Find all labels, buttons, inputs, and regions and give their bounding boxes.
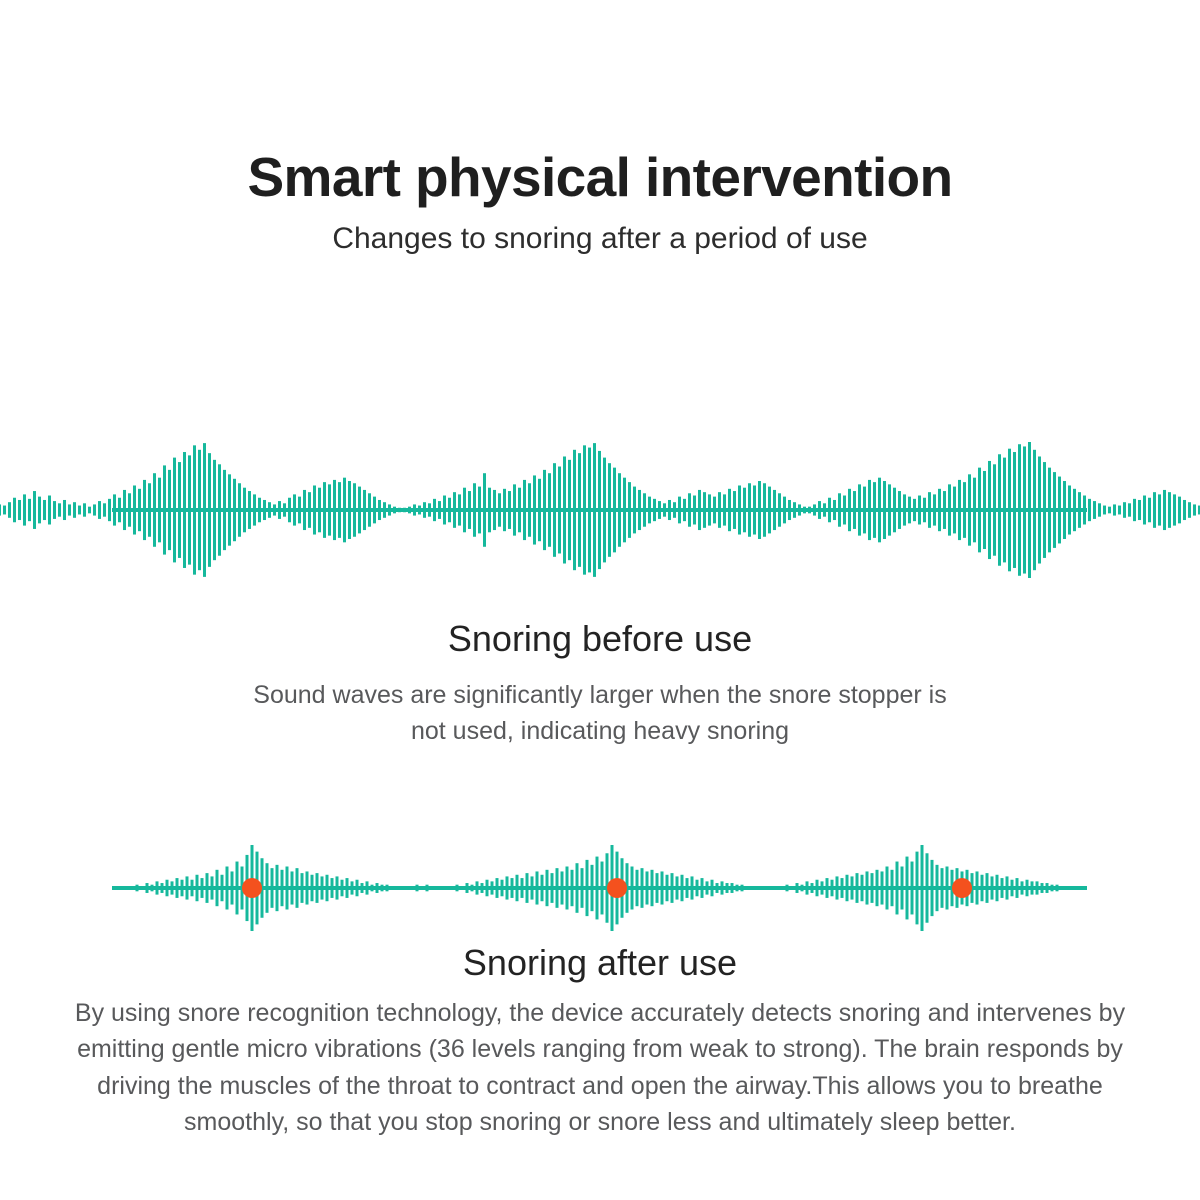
waveform-bar [853,491,856,529]
waveform-bar [561,871,564,904]
waveform-bar [623,478,626,543]
waveform-bar [901,867,904,910]
waveform-bar [603,458,606,563]
waveform-bar [928,492,931,528]
waveform-bar [833,500,836,520]
section-after-title: Snoring after use [0,940,1200,985]
waveform-bar [418,506,421,515]
waveform-bar [1158,494,1161,525]
waveform-bar [311,875,314,901]
waveform-bar [1123,502,1126,518]
waveform-bar [188,455,191,564]
waveform-bar [266,863,269,913]
waveform-bar [1138,500,1141,520]
waveform-bar [1133,499,1136,521]
waveform-bar [398,508,401,512]
waveform-bar [503,489,506,531]
waveform-bar [433,499,436,521]
waveform-bar [253,494,256,525]
waveform-bar [198,450,201,570]
waveform-bar [526,873,529,903]
waveform-bar [921,845,924,931]
waveform-bar [1098,503,1101,516]
waveform-bar [553,463,556,557]
waveform-bar [841,878,844,898]
waveform-bar [558,467,561,554]
waveform-bar [308,492,311,528]
waveform-bar [993,464,996,555]
waveform-bar [996,875,999,901]
waveform-bar [893,488,896,533]
waveform-bar [1026,880,1029,897]
waveform-bar [498,493,501,526]
waveform-bar [691,876,694,899]
section-before-body: Sound waves are significantly larger whe… [250,677,950,750]
waveform-bar [393,507,396,514]
waveform-bar [573,450,576,570]
waveform-bar [463,488,466,533]
waveform-bar [631,867,634,910]
waveform-bar [78,506,81,515]
waveform-bar [803,507,806,514]
waveform-bar [943,491,946,529]
waveform-bar [791,886,794,889]
waveform-bar [298,497,301,524]
waveform-bar [566,867,569,910]
waveform-bar [361,883,364,893]
waveform-bar [483,473,486,547]
waveform-bar [796,883,799,893]
waveform-bar [416,885,419,892]
waveform-bar [658,501,661,519]
waveform-bar [158,478,161,543]
waveform-bar [1051,885,1054,892]
waveform-bar [151,885,154,892]
waveform-bar [1056,885,1059,892]
waveform-bar [143,480,146,540]
waveform-bar [743,488,746,533]
waveform-bar [166,880,169,897]
waveform-bar [541,875,544,901]
waveform-bar [936,865,939,911]
waveform-bar [533,475,536,544]
waveform-bar [731,883,734,893]
waveform-bar [981,875,984,901]
waveform-bar [883,481,886,539]
waveform-bar [983,471,986,549]
waveform-bar [831,880,834,897]
waveform-bar [708,494,711,525]
waveform-bar [788,500,791,520]
waveform-bar [746,886,749,889]
waveform-bar [358,487,361,534]
waveform-bar [58,503,61,516]
waveform-before-use [0,440,1200,580]
waveform-bar [206,873,209,903]
waveform-bar [748,483,751,537]
waveform-bar [778,493,781,526]
waveform-bar [916,852,919,925]
waveform-bar [3,506,6,515]
waveform-bar [563,456,566,563]
waveform-bar [1041,883,1044,893]
waveform-bar [543,470,546,550]
waveform-bar [321,876,324,899]
waveform-bar [318,488,321,533]
waveform-bar [693,496,696,525]
waveform-bar [476,881,479,894]
waveform-bar [1108,507,1111,514]
waveform-bar [1148,498,1151,523]
waveform-bar [348,481,351,539]
waveform-bar [161,883,164,893]
waveform-bar [213,460,216,560]
waveform-bar [1038,456,1041,563]
waveform-bar [471,885,474,892]
waveform-bar [1113,504,1116,515]
waveform-bar [678,497,681,524]
waveform-bar [811,883,814,893]
waveform-bar [818,501,821,519]
waveform-bar [968,474,971,545]
waveform-bar [493,490,496,530]
waveform-bar [336,876,339,899]
waveform-bar [643,493,646,526]
waveform-bar [276,865,279,911]
waveform-bar [216,870,219,906]
waveform-bar [43,500,46,520]
waveform-bar [723,494,726,525]
waveform-bar [396,886,399,889]
poster-canvas: Smart physical intervention Changes to s… [0,0,1200,1200]
waveform-bar [431,886,434,889]
waveform-bar [918,496,921,525]
waveform-bar [371,885,374,892]
waveform-bar [946,867,949,910]
waveform-bar [341,880,344,897]
waveform-bar [356,880,359,897]
waveform-bar [523,480,526,540]
waveform-bar [48,496,51,525]
waveform-bar [441,886,444,889]
waveform-bar [701,878,704,898]
waveform-bar [716,883,719,893]
waveform-bar [508,491,511,529]
waveform-bar [908,497,911,524]
waveform-bar [1153,492,1156,528]
waveform-bar [821,881,824,894]
waveform-bar [458,494,461,525]
waveform-bar [888,484,891,535]
waveform-bar [136,885,139,892]
waveform-bar [963,482,966,538]
waveform-bar [296,868,299,908]
waveform-bar [531,876,534,899]
waveform-bar [133,485,136,534]
waveform-bar [288,498,291,523]
waveform-bar [1003,458,1006,563]
waveform-bar [1058,477,1061,544]
waveform-bar [1163,490,1166,530]
waveform-bar [988,461,991,559]
waveform-bar [671,873,674,903]
waveform-bar [301,873,304,903]
waveform-bar [761,886,764,889]
waveform-bar [808,507,811,514]
waveform-bar [496,878,499,898]
waveform-bar [8,502,11,518]
waveform-bar [93,504,96,515]
waveform-bar [736,885,739,892]
waveform-bar [1173,494,1176,525]
waveform-bar [601,862,604,915]
waveform-bar [661,871,664,904]
waveform-bar [453,492,456,528]
waveform-bar [1178,497,1181,524]
waveform-bar [856,873,859,903]
waveform-bar [698,490,701,530]
waveform-bar [851,876,854,899]
waveform-bar [443,496,446,525]
waveform-bar [293,494,296,525]
waveform-bar [1033,450,1036,570]
waveform-bar [1143,496,1146,525]
waveform-bar [211,876,214,899]
waveform-bar [1083,496,1086,525]
waveform-bar [688,493,691,526]
waveform-bar [203,443,206,577]
waveform-bar [1018,444,1021,576]
waveform-bar [538,479,541,541]
waveform-bar [386,885,389,892]
waveform-bar [1073,489,1076,531]
waveform-bar [653,499,656,521]
waveform-bar [83,503,86,516]
waveform-bar [1031,881,1034,894]
waveform-bar [236,862,239,915]
waveform-bar [783,497,786,524]
waveform-bar [313,485,316,534]
waveform-bar [1021,881,1024,894]
waveform-bar [703,492,706,528]
waveform-bar [1093,501,1096,519]
waveform-bar [858,484,861,535]
section-after-body: By using snore recognition technology, t… [55,995,1145,1140]
waveform-bar [886,867,889,910]
waveform-bar [68,504,71,515]
waveform-bar [941,868,944,908]
waveform-bar [1188,502,1191,518]
section-after-use: Snoring after use By using snore recogni… [0,940,1200,1140]
waveform-bar [456,885,459,892]
waveform-bar [516,875,519,901]
waveform-bar [608,463,611,557]
waveform-bar [768,487,771,534]
waveform-bar [728,489,731,531]
waveform-bar [766,886,769,889]
waveform-bar [38,497,41,524]
waveform-bar [511,878,514,898]
waveform-bar [866,871,869,904]
waveform-bar [53,501,56,519]
waveform-bar [426,885,429,892]
waveform-bar [108,499,111,521]
waveform-bar [926,853,929,922]
waveform-bar [1061,886,1064,889]
waveform-bar [228,474,231,545]
waveform-bar [123,490,126,530]
waveform-bar [163,465,166,554]
waveform-bar [1006,876,1009,899]
waveform-bar [326,875,329,901]
waveform-bar [486,880,489,897]
waveform-bar [248,491,251,529]
waveform-bar [243,488,246,533]
vibration-trigger-dot [607,878,627,898]
waveform-bar [651,870,654,906]
waveform-bar [506,876,509,899]
waveform-bar [233,479,236,541]
waveform-bar [978,468,981,553]
waveform-bar [183,452,186,568]
waveform-bar [586,860,589,916]
waveform-bar [726,883,729,893]
waveform-bar [451,886,454,889]
waveform-bar [816,880,819,897]
waveform-bar [138,489,141,531]
waveform-bar [338,482,341,538]
waveform-bar [823,503,826,516]
waveform-bar [578,453,581,567]
waveform-bar [1043,462,1046,558]
waveform-bar [323,482,326,538]
waveform-bar [666,875,669,901]
waveform-bar [366,881,369,894]
waveform-bar [636,870,639,906]
waveform-bar [148,483,151,537]
waveform-bar [596,857,599,920]
waveform-bar [98,501,101,519]
waveform-bar [798,504,801,515]
waveform-bar [806,881,809,894]
waveform-bar [176,878,179,898]
waveform-bar [648,497,651,524]
waveform-bar [696,880,699,897]
waveform-bar [351,881,354,894]
waveform-bar [998,454,1001,565]
waveform-bar [1193,504,1196,515]
waveform-bar [23,494,26,525]
waveform-bar [633,487,636,534]
waveform-bar [436,886,439,889]
waveform-bar [576,863,579,913]
waveform-after-use [0,843,1200,933]
waveform-bar [478,487,481,534]
waveform-bar [481,883,484,893]
waveform-bar [756,886,759,889]
waveform-bar [156,881,159,894]
waveform-bar [281,870,284,906]
waveform-bar [906,857,909,920]
waveform-bar [88,507,91,514]
waveform-bar [1036,881,1039,894]
waveform-bar [873,482,876,538]
waveform-bar [751,886,754,889]
waveform-bar [1078,492,1081,528]
waveform-bar [891,870,894,906]
waveform-bar [656,873,659,903]
waveform-bar [126,886,129,889]
waveform-bar [181,880,184,897]
waveform-bar [973,478,976,543]
waveform-bar [1016,878,1019,898]
waveform-bar [881,871,884,904]
waveform-bar [711,880,714,897]
waveform-bar [1063,481,1066,539]
waveform-bar [588,448,591,573]
waveform-bar [868,480,871,540]
waveform-bar [196,875,199,901]
waveform-bar [223,470,226,550]
waveform-bar [33,491,36,529]
waveform-bar [781,886,784,889]
waveform-bar [218,464,221,555]
waveform-bar [273,504,276,515]
waveform-bar [1028,442,1031,578]
waveform-bar [428,503,431,516]
waveform-bar [423,502,426,518]
waveform-bar [681,875,684,901]
waveform-bar [618,473,621,547]
waveform-bar [771,886,774,889]
waveform-bar [591,865,594,911]
section-before-use: Snoring before use Sound waves are signi… [0,616,1200,750]
waveform-bar [388,504,391,515]
waveform-bars [0,442,1200,578]
waveform-bar [316,873,319,903]
waveform-bar [1046,883,1049,893]
waveform-bar [501,880,504,897]
waveform-bar [733,491,736,529]
waveform-bar [583,445,586,574]
waveform-bar [201,878,204,898]
waveform-bar [673,502,676,518]
waveform-bar [1128,503,1131,516]
waveform-bar [231,871,234,904]
waveform-bar [173,458,176,563]
waveform-bar [141,886,144,889]
waveform-bar [718,492,721,528]
waveform-bar [876,870,879,906]
waveform-bar [556,868,559,908]
waveform-bar [221,875,224,901]
waveform-bar [168,470,171,550]
waveform-bar [953,487,956,534]
waveform-bar [613,468,616,553]
waveform-bar [118,498,121,523]
waveform-bar [898,491,901,529]
waveform-bar [303,490,306,530]
waveform-bar [1001,878,1004,898]
waveform-bar [18,500,21,520]
waveform-bar [801,885,804,892]
waveform-bar [331,878,334,898]
waveform-bar [283,503,286,516]
waveform-bar [191,880,194,897]
waveform-bar [828,498,831,523]
waveform-bar [28,499,31,521]
waveform-bar [421,886,424,889]
